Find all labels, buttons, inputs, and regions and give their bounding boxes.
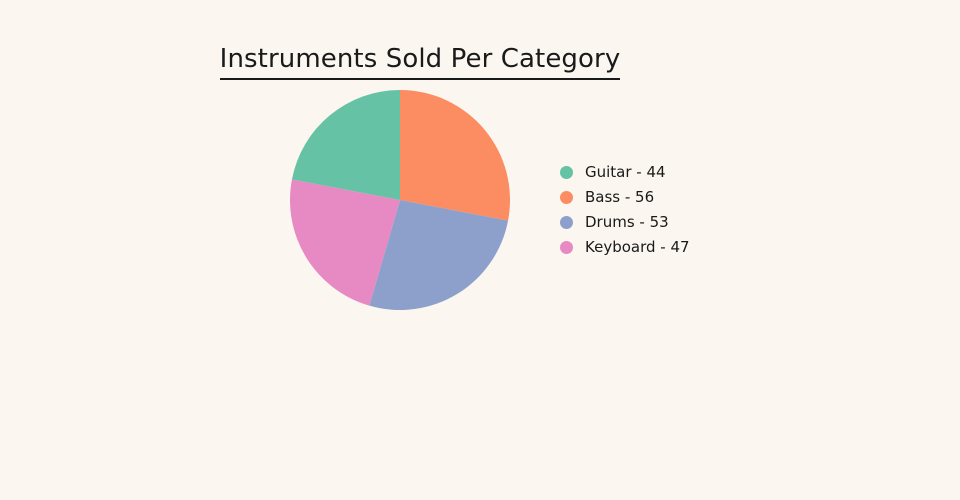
pie-chart-figure: Instruments Sold Per Category Guitar - 4… [0, 0, 960, 500]
chart-legend: Guitar - 44Bass - 56Drums - 53Keyboard -… [560, 160, 820, 260]
legend-swatch-icon [560, 191, 573, 204]
legend-item-drums[interactable]: Drums - 53 [560, 210, 820, 235]
legend-item-guitar[interactable]: Guitar - 44 [560, 160, 820, 185]
legend-item-label: Guitar - 44 [585, 165, 666, 180]
pie-svg [290, 90, 510, 310]
pie-slices-group [290, 90, 510, 310]
legend-item-label: Drums - 53 [585, 215, 669, 230]
legend-item-keyboard[interactable]: Keyboard - 47 [560, 235, 820, 260]
page-title: Instruments Sold Per Category [0, 44, 840, 74]
legend-item-label: Bass - 56 [585, 190, 654, 205]
legend-item-bass[interactable]: Bass - 56 [560, 185, 820, 210]
legend-swatch-icon [560, 216, 573, 229]
legend-swatch-icon [560, 166, 573, 179]
pie-slice-bass[interactable] [400, 90, 510, 221]
legend-item-label: Keyboard - 47 [585, 240, 690, 255]
chart-title-text: Instruments Sold Per Category [220, 44, 621, 80]
legend-swatch-icon [560, 241, 573, 254]
pie-chart-plot-area [290, 90, 510, 310]
